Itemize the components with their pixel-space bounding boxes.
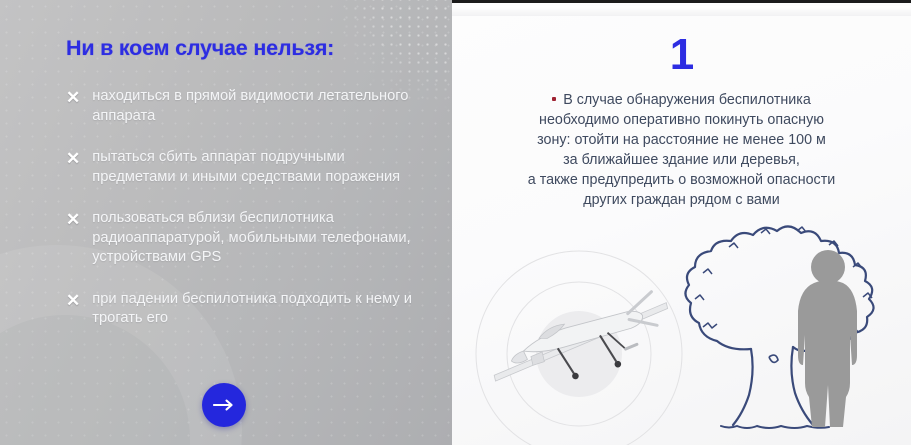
list-item: ✕ пользоваться вблизи беспилотника радио…	[66, 209, 418, 268]
instruction-text: В случае обнаружения беспилотника необхо…	[452, 90, 911, 210]
list-item-label: находиться в прямой видимости летательно…	[92, 87, 418, 126]
arrow-right-icon	[213, 399, 235, 411]
instruction-line: В случае обнаружения беспилотника	[563, 92, 811, 108]
drone-svg	[482, 283, 678, 393]
step-number: 1	[452, 33, 911, 77]
list-item: ✕ находиться в прямой видимости летатель…	[66, 87, 418, 126]
instruction-line: за ближайшее здание или деревья,	[474, 150, 889, 170]
list-item: ✕ пытаться сбить аппарат подручными пред…	[66, 148, 418, 187]
drone-uav-illustration	[482, 283, 678, 393]
list-item-label: пользоваться вблизи беспилотника радиоап…	[92, 209, 418, 268]
left-panel-prohibitions: Ни в коем случае нельзя: ✕ находиться в …	[0, 0, 452, 445]
instruction-line: необходимо оперативно покинуть опасную	[474, 110, 889, 130]
person-silhouette	[798, 250, 857, 427]
instruction-line: зону: отойти на расстояние не менее 100 …	[474, 130, 889, 150]
cross-icon: ✕	[66, 291, 80, 311]
top-sheen	[452, 6, 911, 16]
instruction-line: а также предупредить о возможной опаснос…	[474, 170, 889, 190]
list-item: ✕ при падении беспилотника подходить к н…	[66, 290, 418, 329]
cross-icon: ✕	[66, 210, 80, 230]
right-panel-instruction: 1 В случае обнаружения беспилотника необ…	[452, 0, 911, 445]
bullet-dot-icon	[552, 97, 556, 101]
left-panel-content: Ни в коем случае нельзя: ✕ находиться в …	[0, 0, 452, 329]
decorative-circle-small	[0, 315, 190, 445]
instruction-line: других граждан рядом с вами	[474, 190, 889, 210]
list-item-label: пытаться сбить аппарат подручными предме…	[92, 148, 418, 187]
illustration-area	[452, 215, 911, 445]
page-title: Ни в коем случае нельзя:	[66, 36, 418, 61]
infographic-slide: Ни в коем случае нельзя: ✕ находиться в …	[0, 0, 911, 445]
next-button[interactable]	[202, 383, 246, 427]
prohibition-list: ✕ находиться в прямой видимости летатель…	[66, 87, 418, 329]
tree-and-person-illustration	[673, 215, 905, 443]
list-item-label: при падении беспилотника подходить к нем…	[92, 290, 418, 329]
cross-icon: ✕	[66, 149, 80, 169]
cross-icon: ✕	[66, 88, 80, 108]
tree-person-svg	[673, 215, 905, 443]
